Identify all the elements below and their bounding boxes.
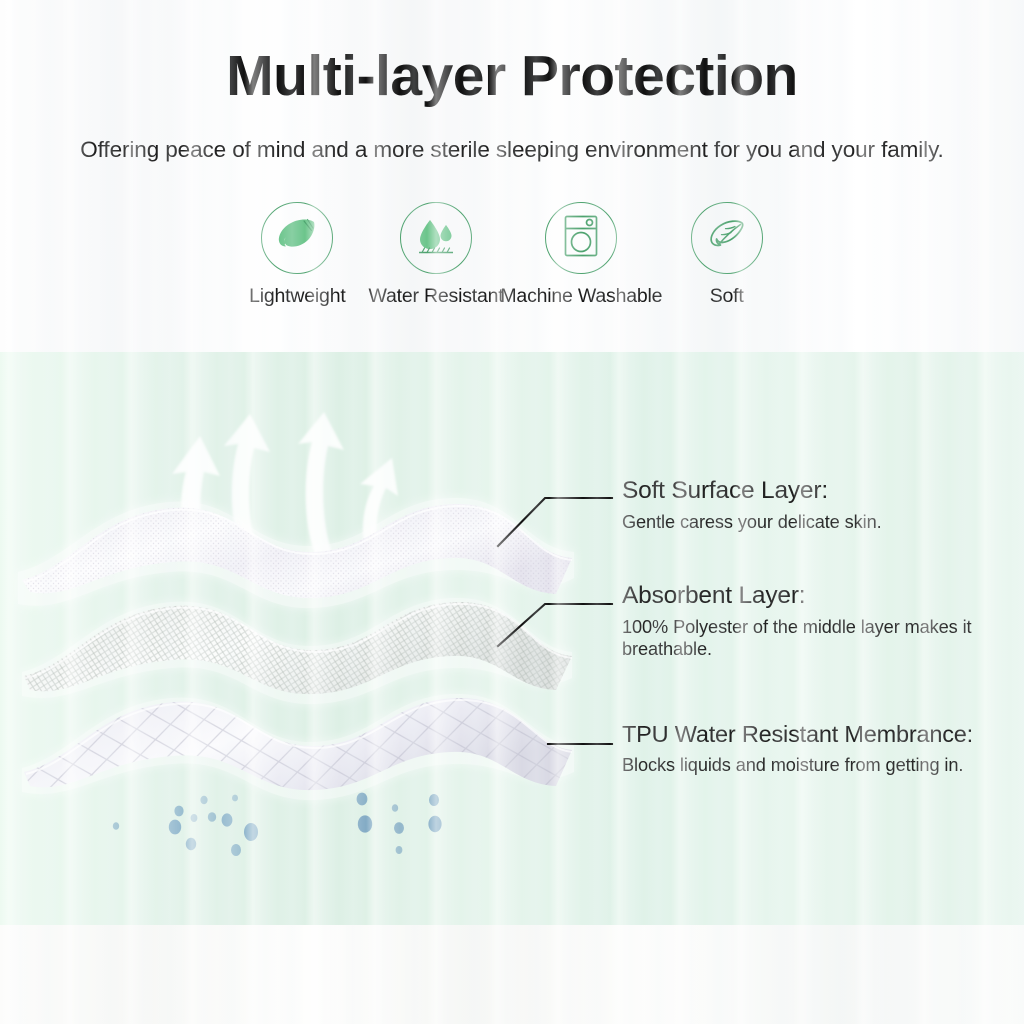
callout-title: TPU Water Resistant Membrance: (622, 722, 1022, 748)
feature-water-resistant[interactable]: Water Resistant (367, 202, 506, 308)
callout-tpu-membrane-layer: TPU Water Resistant Membrance: Blocks li… (622, 722, 1022, 776)
callout-absorbent-layer: Absorbent Layer: 100% Polyester of the m… (622, 583, 1022, 660)
callout-title: Absorbent Layer: (622, 583, 1022, 610)
callout-title: Soft Surface Layer: (622, 478, 1022, 505)
feature-circle (545, 202, 617, 274)
page-title: Multi-layer Protection (0, 48, 1024, 105)
feather-icon (274, 216, 320, 261)
header-section: Multi-layer Protection Offering peace of… (0, 0, 1024, 352)
feature-label: Lightweight (249, 285, 345, 308)
feature-circle (400, 202, 472, 274)
callout-soft-surface-layer: Soft Surface Layer: Gentle caress your d… (622, 478, 1022, 533)
feature-label: Machine Washable (500, 285, 662, 308)
washing-machine-icon (560, 213, 602, 264)
callout-description: 100% Polyester of the middle layer makes… (622, 616, 1022, 660)
feature-machine-washable[interactable]: Machine Washable (505, 202, 657, 308)
feature-label: Water Resistant (369, 285, 504, 308)
feature-soft[interactable]: Soft (657, 202, 796, 308)
feature-badges: Lightweight (228, 202, 796, 312)
feature-circle (261, 202, 333, 274)
callout-description: Gentle caress your delicate skin. (622, 511, 1022, 533)
footer-band (0, 925, 1024, 1024)
leaf-icon (704, 215, 750, 262)
page-subtitle: Offering peace of mind and a more steril… (0, 137, 1024, 163)
feature-label: Soft (710, 285, 744, 308)
callout-description: Blocks liquids and moisture from getting… (622, 754, 1022, 776)
feature-lightweight[interactable]: Lightweight (228, 202, 367, 308)
feature-circle (691, 202, 763, 274)
infographic-page: Multi-layer Protection Offering peace of… (0, 0, 1024, 1024)
water-drop-icon (413, 214, 459, 263)
